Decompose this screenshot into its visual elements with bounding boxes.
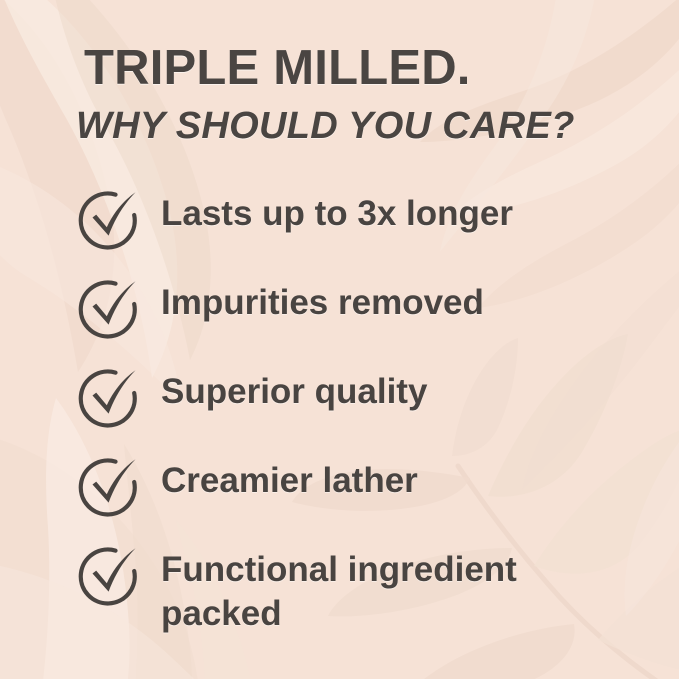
list-item-label: Lasts up to 3x longer: [161, 192, 636, 236]
page-title: TRIPLE MILLED.: [84, 44, 471, 93]
list-item-label: Impurities removed: [161, 281, 636, 325]
poster-canvas: TRIPLE MILLED. WHY SHOULD YOU CARE? Last…: [0, 0, 679, 679]
list-item: Impurities removed: [76, 277, 636, 366]
list-item: Creamier lather: [76, 455, 636, 544]
list-item: Functional ingredient packed: [76, 544, 636, 633]
page-subtitle: WHY SHOULD YOU CARE?: [76, 107, 575, 145]
check-circle-icon: [76, 367, 142, 431]
check-circle-icon: [76, 278, 142, 342]
list-item-label: Superior quality: [161, 370, 636, 414]
check-circle-icon: [76, 456, 142, 520]
list-item-label: Creamier lather: [161, 459, 636, 503]
check-circle-icon: [76, 189, 142, 253]
check-circle-icon: [76, 545, 142, 609]
list-item: Superior quality: [76, 366, 636, 455]
poster-content: TRIPLE MILLED. WHY SHOULD YOU CARE? Last…: [0, 0, 679, 679]
benefit-list: Lasts up to 3x longer Impurities removed…: [76, 188, 636, 633]
list-item: Lasts up to 3x longer: [76, 188, 636, 277]
list-item-label: Functional ingredient packed: [161, 548, 571, 636]
